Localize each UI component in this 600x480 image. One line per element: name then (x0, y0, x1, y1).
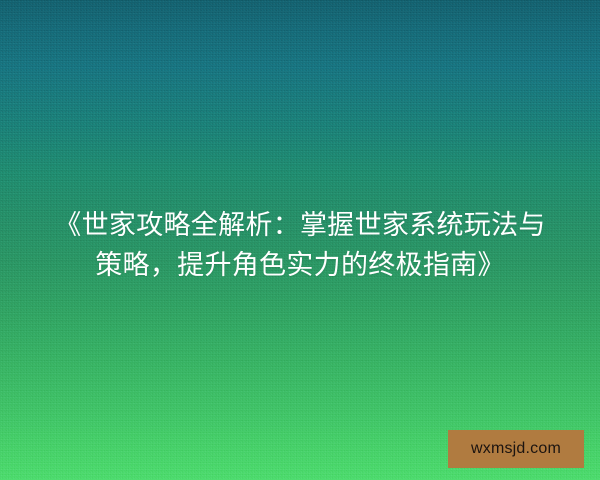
watermark-badge: wxmsjd.com (448, 430, 584, 468)
title-block: 《世家攻略全解析：掌握世家系统玩法与 策略，提升角色实力的终极指南》 (0, 206, 600, 286)
watermark-label: wxmsjd.com (471, 441, 561, 457)
image-canvas: 《世家攻略全解析：掌握世家系统玩法与 策略，提升角色实力的终极指南》 wxmsj… (0, 0, 600, 480)
page-title: 《世家攻略全解析：掌握世家系统玩法与 策略，提升角色实力的终极指南》 (24, 206, 576, 286)
